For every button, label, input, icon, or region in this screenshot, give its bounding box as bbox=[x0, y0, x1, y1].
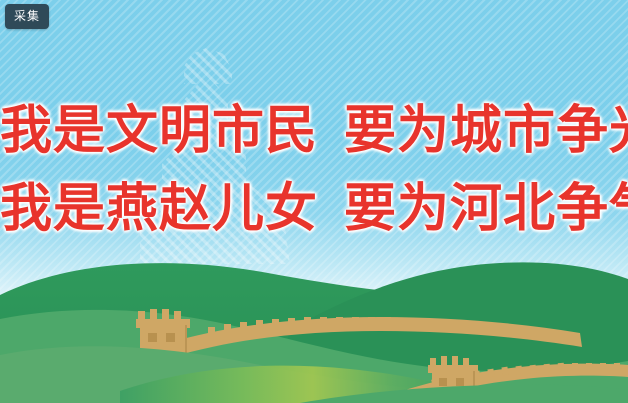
slogan-line-2-left: 我是燕赵儿女 bbox=[0, 179, 318, 239]
slogan-text-block: 我是文明市民要为城市争光 我是燕赵儿女要为河北争气 bbox=[0, 92, 628, 248]
slogan-line-1-left: 我是文明市民 bbox=[0, 101, 318, 161]
slogan-line-2: 我是燕赵儿女要为河北争气 bbox=[0, 170, 628, 248]
slogan-line-1: 我是文明市民要为城市争光 bbox=[0, 92, 628, 170]
landscape-hills bbox=[0, 243, 628, 403]
capture-button[interactable]: 采集 bbox=[5, 4, 49, 29]
slogan-banner-image: 我是文明市民要为城市争光 我是燕赵儿女要为河北争气 采集 bbox=[0, 0, 628, 403]
slogan-line-2-right: 要为河北争气 bbox=[344, 179, 628, 239]
slogan-line-1-right: 要为城市争光 bbox=[344, 101, 628, 161]
